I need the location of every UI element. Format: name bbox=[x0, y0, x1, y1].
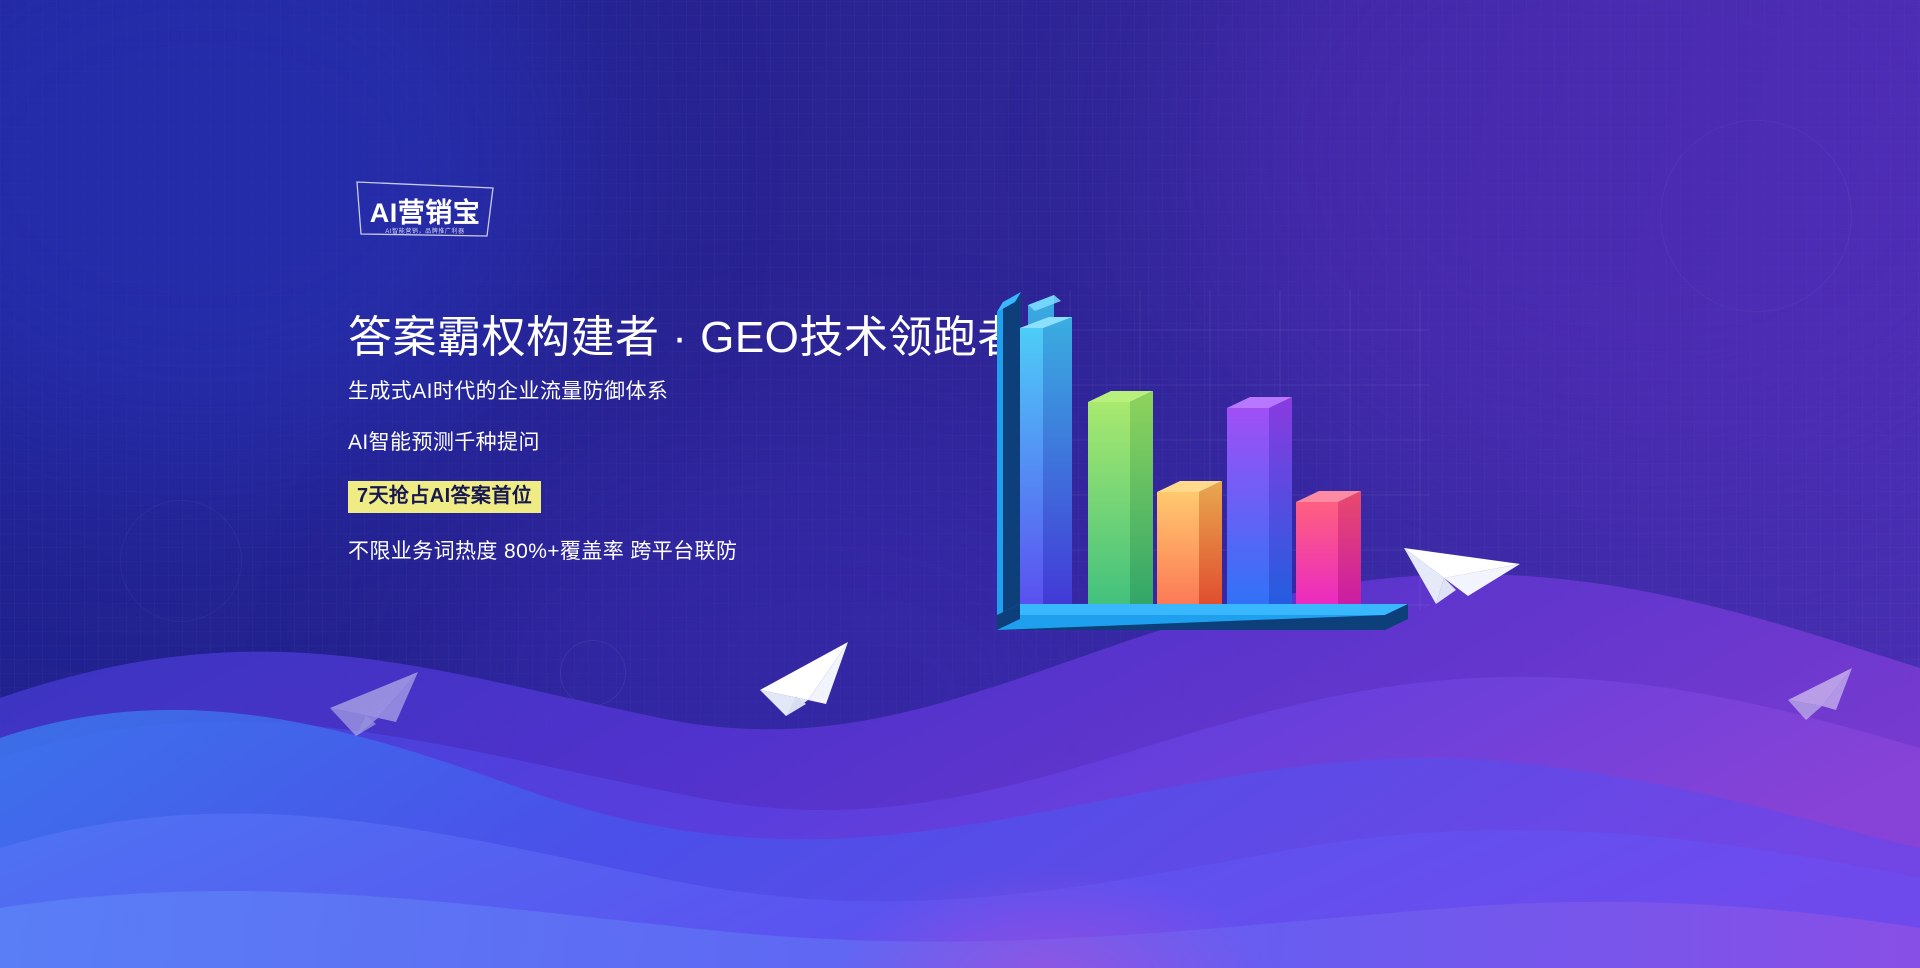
hero-highlight-row: 7天抢占AI答案首位 bbox=[348, 481, 988, 513]
chart-baseline bbox=[997, 604, 1408, 630]
hero-feature-line-2: 不限业务词热度 80%+覆盖率 跨平台联防 bbox=[348, 539, 988, 564]
hero-subtitle: 生成式AI时代的企业流量防御体系 bbox=[348, 379, 988, 404]
page-title: 答案霸权构建者 · GEO技术领跑者 bbox=[348, 312, 988, 363]
chart-y-axis bbox=[997, 292, 1021, 623]
chart-gridlines bbox=[1015, 290, 1430, 610]
brand-logo[interactable]: AI营销宝 AI智能营销，品牌推广利器 bbox=[355, 178, 495, 240]
chart-bar-d bbox=[1227, 397, 1292, 615]
hero-feature-line-1: AI智能预测千种提问 bbox=[348, 430, 988, 455]
status-badge: 7天抢占AI答案首位 bbox=[348, 481, 541, 513]
logo-tagline: AI智能营销，品牌推广利器 bbox=[385, 229, 464, 235]
chart-bar-a bbox=[1020, 317, 1072, 615]
chart-bar-b bbox=[1088, 391, 1153, 615]
chart-bar-e bbox=[1296, 491, 1361, 615]
background-waves bbox=[0, 548, 1920, 968]
logo-text: AI营销宝 bbox=[370, 200, 481, 227]
hero-copy: 答案霸权构建者 · GEO技术领跑者 生成式AI时代的企业流量防御体系 AI智能… bbox=[348, 312, 988, 565]
hero-banner: AI营销宝 AI智能营销，品牌推广利器 答案霸权构建者 · GEO技术领跑者 生… bbox=[0, 0, 1920, 968]
bar-chart bbox=[975, 290, 1445, 665]
decorative-circle bbox=[1660, 120, 1852, 312]
chart-bar-c bbox=[1157, 481, 1222, 615]
